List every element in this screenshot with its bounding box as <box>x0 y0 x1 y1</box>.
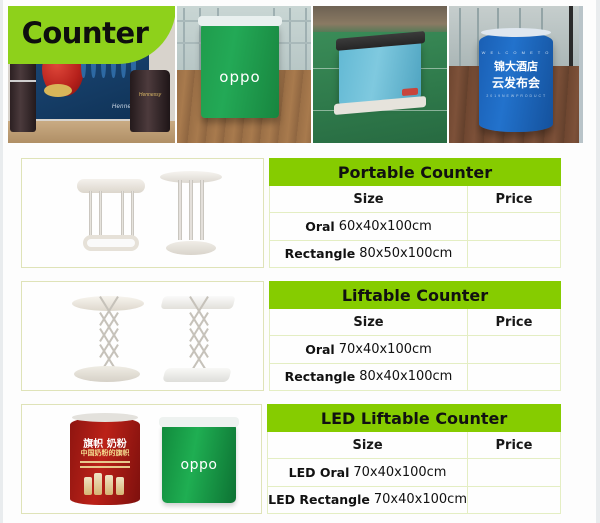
product-row-liftable-counter: Liftable Counter Size Price Oral 70x40x1… <box>21 281 561 391</box>
price-cell <box>468 241 560 267</box>
counter-accent-stripe <box>402 88 418 96</box>
price-cell <box>468 459 560 485</box>
table-row: LED Rectangle 70x40x100cm <box>267 487 561 514</box>
size-cell: Rectangle 80x50x100cm <box>270 241 468 267</box>
size-dimension: 70x40x100cm <box>374 492 467 507</box>
rectangle-liftable-table <box>162 296 234 382</box>
counter-top-surface <box>159 417 239 427</box>
table-top <box>77 179 145 193</box>
product-cans-graphic <box>84 473 126 495</box>
scissor-lift-mechanism <box>92 308 124 366</box>
green-oppo-led-counter: oppo <box>162 423 236 503</box>
square-top-counter-table <box>77 179 145 251</box>
spec-header-row: Size Price <box>267 432 561 459</box>
size-cell: LED Oral 70x40x100cm <box>268 459 468 485</box>
counter-graphic-line-2: 云发布会 <box>479 74 553 91</box>
dark-post <box>569 6 573 66</box>
column-header-size: Size <box>268 432 468 458</box>
counter-graphic-line-1: 锦大酒店 <box>479 58 553 74</box>
counter-top-surface <box>481 28 551 37</box>
banner-photo-hennessy-booth: Hennessy Hennessy Counter <box>8 6 175 143</box>
table-row: Rectangle 80x50x100cm <box>269 241 561 268</box>
blue-round-counter-unit: W E L C O M E T O 锦大酒店 云发布会 2 0 1 9 N E … <box>479 32 553 132</box>
pod-brand-label: Hennessy <box>130 92 170 98</box>
size-label: LED Rectangle <box>268 492 370 507</box>
red-counter-subline: 中国奶粉的旗帜 <box>70 448 140 458</box>
banner-photo-oppo-green-counter: oppo <box>175 6 311 143</box>
spec-title-led-liftable-counter: LED Liftable Counter <box>267 404 561 432</box>
column-header-price: Price <box>468 309 560 335</box>
size-label: Rectangle <box>285 246 356 261</box>
column-header-size: Size <box>270 186 468 212</box>
table-base <box>162 368 231 382</box>
size-dimension: 70x40x100cm <box>339 342 432 357</box>
size-dimension: 80x50x100cm <box>359 246 452 261</box>
round-top-counter-table <box>160 171 222 255</box>
header-photo-banner: Hennessy Hennessy Counter oppo <box>8 6 583 143</box>
red-led-round-counter: 旗帜 奶粉 中国奶粉的旗帜 <box>70 417 140 505</box>
column-header-price: Price <box>468 186 560 212</box>
counter-graphic-sub-line: 2 0 1 9 N E W P R O D U C T <box>479 94 553 98</box>
size-dimension: 70x40x100cm <box>353 465 446 480</box>
graphic-bars <box>80 461 130 470</box>
size-label: Rectangle <box>285 369 356 384</box>
oppo-brand-label: oppo <box>201 68 279 86</box>
size-cell: Oral 70x40x100cm <box>270 336 468 362</box>
size-label: Oral <box>305 342 335 357</box>
spec-title-portable-counter: Portable Counter <box>269 158 561 186</box>
table-row: Rectangle 80x40x100cm <box>269 364 561 391</box>
spec-table-portable-counter: Portable Counter Size Price Oral 60x40x1… <box>269 158 561 268</box>
column-header-size: Size <box>270 309 468 335</box>
product-row-portable-counter: Portable Counter Size Price Oral 60x40x1… <box>21 158 561 268</box>
size-dimension: 80x40x100cm <box>359 369 452 384</box>
product-image-portable-counter <box>21 158 264 268</box>
price-cell <box>468 487 560 513</box>
banner-photo-blue-liftable-counter <box>311 6 447 143</box>
table-row: Oral 70x40x100cm <box>269 336 561 363</box>
page-title: Counter <box>22 16 163 54</box>
product-image-liftable-counter <box>21 281 264 391</box>
scissor-lift-mechanism <box>182 308 214 366</box>
counter-top-surface <box>72 413 138 422</box>
banner-photo-blue-round-led-counter: W E L C O M E T O 锦大酒店 云发布会 2 0 1 9 N E … <box>447 6 579 143</box>
spec-title-liftable-counter: Liftable Counter <box>269 281 561 309</box>
oppo-brand-label: oppo <box>162 457 236 473</box>
spec-table-led-liftable-counter: LED Liftable Counter Size Price LED Oral… <box>267 404 561 514</box>
spec-table-liftable-counter: Liftable Counter Size Price Oral 70x40x1… <box>269 281 561 391</box>
table-base <box>74 366 140 382</box>
size-cell: Oral 60x40x100cm <box>270 213 468 239</box>
counter-graphic-top-line: W E L C O M E T O <box>479 50 553 55</box>
counter-top-surface <box>198 16 282 26</box>
table-base <box>166 241 216 255</box>
size-label: LED Oral <box>289 465 350 480</box>
size-label: Oral <box>305 219 335 234</box>
size-cell: LED Rectangle 70x40x100cm <box>268 487 468 513</box>
oval-liftable-table <box>72 296 144 382</box>
product-spec-page: Hennessy Hennessy Counter oppo <box>0 0 600 523</box>
oppo-counter-unit: oppo <box>201 22 279 118</box>
column-header-price: Price <box>468 432 560 458</box>
hennessy-counter-pod: Hennessy <box>130 70 170 132</box>
size-cell: Rectangle 80x40x100cm <box>270 364 468 390</box>
size-dimension: 60x40x100cm <box>339 219 432 234</box>
price-cell <box>468 364 560 390</box>
product-image-led-liftable-counter: 旗帜 奶粉 中国奶粉的旗帜 oppo <box>21 404 262 514</box>
product-row-led-liftable-counter: 旗帜 奶粉 中国奶粉的旗帜 oppo LED Liftable Counter … <box>21 404 561 514</box>
spec-header-row: Size Price <box>269 309 561 336</box>
price-cell <box>468 213 560 239</box>
table-row: LED Oral 70x40x100cm <box>267 459 561 486</box>
bottle-label-badge <box>44 84 72 97</box>
blue-counter-unit <box>339 40 421 105</box>
counter-title-tab: Counter <box>8 6 175 64</box>
spec-header-row: Size Price <box>269 186 561 213</box>
table-row: Oral 60x40x100cm <box>269 213 561 240</box>
table-base <box>83 235 139 251</box>
price-cell <box>468 336 560 362</box>
